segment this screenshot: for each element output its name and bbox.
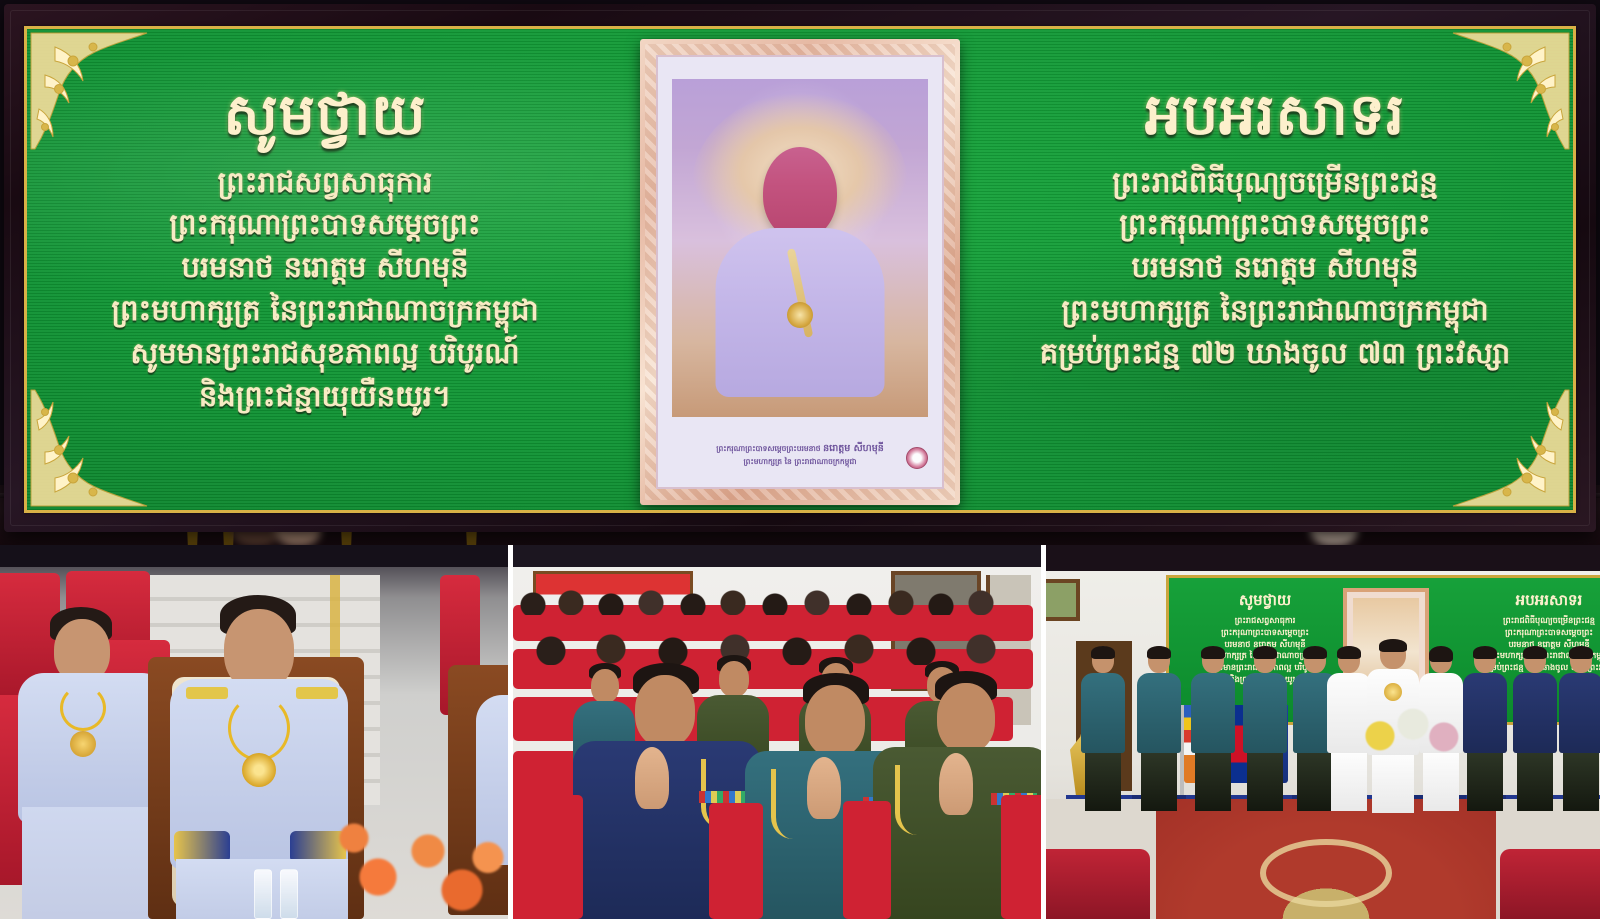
sampeah-hands bbox=[939, 753, 973, 815]
left-line-5: សូមមានព្រះរាជសុខភាពល្អ បរិបូរណ៍ bbox=[45, 332, 605, 375]
uniform-jacket bbox=[1191, 673, 1235, 753]
portrait-medal bbox=[787, 302, 813, 328]
head bbox=[805, 685, 865, 757]
aiguillette-cord bbox=[771, 769, 797, 839]
head bbox=[937, 683, 995, 753]
uniform-jacket bbox=[1559, 673, 1600, 753]
medal-star bbox=[70, 731, 96, 757]
white-skirt bbox=[1423, 753, 1459, 811]
sampeah-hands bbox=[635, 747, 669, 809]
left-line-3: បរមនាថ នរោត្តម សីហមុនី bbox=[45, 246, 605, 289]
left-line-2: ព្រះករុណាព្រះបាទសម្ដេចព្រះ bbox=[45, 203, 605, 246]
mini-right-line-2: ព្រះករុណាព្រះបាទសម្ដេចព្រះ bbox=[1459, 627, 1600, 639]
banner-green-board: សូមថ្វាយ ព្រះរាជសព្វសាធុការ ព្រះករុណាព្រ… bbox=[27, 29, 1573, 510]
hair bbox=[1253, 646, 1277, 659]
hair bbox=[1337, 646, 1361, 659]
caption-line-2: ព្រះមហាក្សត្រ នៃ ព្រះរាជាណាចក្រកម្ពុជា bbox=[676, 456, 924, 467]
right-line-5: គម្រប់ព្រះជន្ម ៧២ ឃាងចូល ៧៣ ព្រះវស្សា bbox=[995, 332, 1555, 375]
royal-portrait: ព្រះករុណាព្រះបាទសម្ដេចព្រះបរមនាថ នរោត្តម… bbox=[640, 39, 960, 505]
trousers bbox=[1195, 753, 1231, 811]
foreground-red-chair bbox=[1046, 849, 1150, 919]
trousers bbox=[1247, 753, 1283, 811]
water-bottle bbox=[280, 869, 298, 919]
portrait-photo bbox=[672, 79, 928, 417]
medal-ribbons bbox=[699, 791, 745, 803]
left-line-1: ព្រះរាជសព្វសាធុការ bbox=[45, 161, 605, 204]
hair bbox=[1473, 646, 1497, 659]
hair bbox=[1429, 646, 1453, 662]
hair bbox=[1303, 646, 1327, 659]
audience-heads-row bbox=[523, 629, 1023, 665]
standing-officer bbox=[1558, 646, 1600, 811]
screenshot-root: សូមថ្វាយ ព្រះរាជសព្វសាធុការ ព្រះករុណាព្រ… bbox=[0, 0, 1600, 919]
mini-left-line-1: ព្រះរាជសព្វសាធុការ bbox=[1175, 615, 1355, 627]
white-trousers bbox=[1372, 755, 1414, 813]
caption-name: នរោត្តម សីហមុនី bbox=[823, 443, 884, 454]
right-line-1: ព្រះរាជពិធីបុណ្យចម្រើនព្រះជន្ម bbox=[995, 161, 1555, 204]
royal-order-medal bbox=[242, 753, 276, 787]
orange-flower-arrangement bbox=[318, 799, 508, 919]
foreground-seat bbox=[1001, 795, 1041, 919]
photo-left-top-shadow bbox=[0, 545, 508, 567]
caption-prefix: ព្រះករុណាព្រះបាទសម្ដេចព្រះបរមនាថ bbox=[716, 444, 820, 453]
photo-seated-officials-white-uniform bbox=[0, 545, 508, 919]
foreground-seat bbox=[843, 801, 891, 919]
mini-left-line-2: ព្រះករុណាព្រះបាទសម្ដេចព្រះ bbox=[1175, 627, 1355, 639]
mini-left-headline: សូមថ្វាយ bbox=[1175, 590, 1355, 612]
photo-strip: សូមថ្វាយ ព្រះរាជសព្វសាធុការ ព្រះករុណាព្រ… bbox=[0, 545, 1600, 919]
foreground-seat bbox=[513, 795, 583, 919]
trousers bbox=[1141, 753, 1177, 811]
foreground-seat bbox=[709, 803, 763, 919]
audience-heads-row bbox=[517, 585, 1017, 615]
gold-chain bbox=[60, 685, 106, 731]
standing-officer bbox=[1080, 646, 1126, 811]
trousers bbox=[1517, 753, 1553, 811]
uniform-jacket bbox=[1513, 673, 1557, 753]
white-trousers bbox=[1331, 753, 1367, 811]
trousers bbox=[22, 807, 168, 919]
uniform-jacket bbox=[1137, 673, 1181, 753]
red-patterned-carpet bbox=[1156, 799, 1496, 919]
right-headline: អបអរសាទរ bbox=[995, 83, 1555, 149]
portrait-caption: ព្រះករុណាព្រះបាទសម្ដេចព្រះបរមនាថ នរោត្តម… bbox=[676, 442, 924, 468]
foreground-red-chair bbox=[1500, 849, 1600, 919]
framed-picture bbox=[1046, 579, 1080, 621]
photo-military-officers-sampeah bbox=[513, 545, 1041, 919]
hair bbox=[1147, 646, 1171, 659]
aiguillette-cord bbox=[895, 765, 921, 835]
trousers bbox=[1563, 753, 1599, 811]
standing-officer bbox=[1136, 646, 1182, 811]
standing-officer bbox=[1190, 646, 1236, 811]
corner-ornament-bottom-right bbox=[1439, 376, 1571, 508]
right-line-4: ព្រះមហាក្សត្រ នៃព្រះរាជាណាចក្រកម្ពុជា bbox=[995, 289, 1555, 332]
right-line-2: ព្រះករុណាព្រះបាទសម្ដេចព្រះ bbox=[995, 203, 1555, 246]
uniform-jacket bbox=[1081, 673, 1125, 753]
hair bbox=[1523, 646, 1547, 659]
trousers bbox=[1085, 753, 1121, 811]
uniform-jacket bbox=[1463, 673, 1507, 753]
standing-officer bbox=[1512, 646, 1558, 811]
shoulder-board bbox=[186, 687, 228, 699]
banner-stage: សូមថ្វាយ ព្រះរាជសព្វសាធុការ ព្រះករុណាព្រ… bbox=[0, 0, 1600, 545]
portrait-mat: ព្រះករុណាព្រះបាទសម្ដេចព្រះបរមនាថ នរោត្តម… bbox=[656, 55, 944, 489]
hair bbox=[1201, 646, 1225, 659]
uniform-jacket bbox=[1243, 673, 1287, 753]
mini-right-headline: អបអរសាទរ bbox=[1459, 590, 1600, 612]
banner-left-column: សូមថ្វាយ ព្រះរាជសព្វសាធុការ ព្រះករុណាព្រ… bbox=[45, 83, 605, 418]
left-headline: សូមថ្វាយ bbox=[45, 83, 605, 149]
sampeah-hands bbox=[807, 757, 841, 819]
left-line-4: ព្រះមហាក្សត្រ នៃព្រះរាជាណាចក្រកម្ពុជា bbox=[45, 289, 605, 332]
flower-arrangement bbox=[1358, 701, 1468, 759]
medal bbox=[1384, 683, 1402, 701]
standing-officer bbox=[1242, 646, 1288, 811]
hair bbox=[1569, 646, 1593, 659]
mini-right-line-1: ព្រះរាជពិធីបុណ្យចម្រើនព្រះជន្ម bbox=[1459, 615, 1600, 627]
gold-chain-necklace bbox=[228, 695, 290, 761]
banner-right-column: អបអរសាទរ ព្រះរាជពិធីបុណ្យចម្រើនព្រះជន្ម … bbox=[995, 83, 1555, 375]
hair bbox=[1379, 639, 1407, 652]
hair bbox=[1091, 646, 1115, 659]
water-bottle bbox=[254, 869, 272, 919]
standing-officer bbox=[1462, 646, 1508, 811]
banner-gold-border: សូមថ្វាយ ព្រះរាជសព្វសាធុការ ព្រះករុណាព្រ… bbox=[24, 26, 1576, 513]
banner-wood-frame: សូមថ្វាយ ព្រះរាជសព្វសាធុការ ព្រះករុណាព្រ… bbox=[4, 4, 1596, 532]
left-line-6: និងព្រះជន្មាយុយឺនយូរ។ bbox=[45, 375, 605, 418]
portrait-head bbox=[763, 147, 837, 239]
head bbox=[635, 675, 695, 747]
royal-seal-icon bbox=[906, 447, 928, 469]
shoulder-board bbox=[296, 687, 338, 699]
portrait-ornate-frame: ព្រះករុណាព្រះបាទសម្ដេចព្រះបរមនាថ នរោត្តម… bbox=[640, 39, 960, 505]
right-line-3: បរមនាថ នរោត្តម សីហមុនី bbox=[995, 246, 1555, 289]
photo-group-in-hall: សូមថ្វាយ ព្រះរាជសព្វសាធុការ ព្រះករុណាព្រ… bbox=[1046, 545, 1600, 919]
trousers bbox=[1467, 753, 1503, 811]
